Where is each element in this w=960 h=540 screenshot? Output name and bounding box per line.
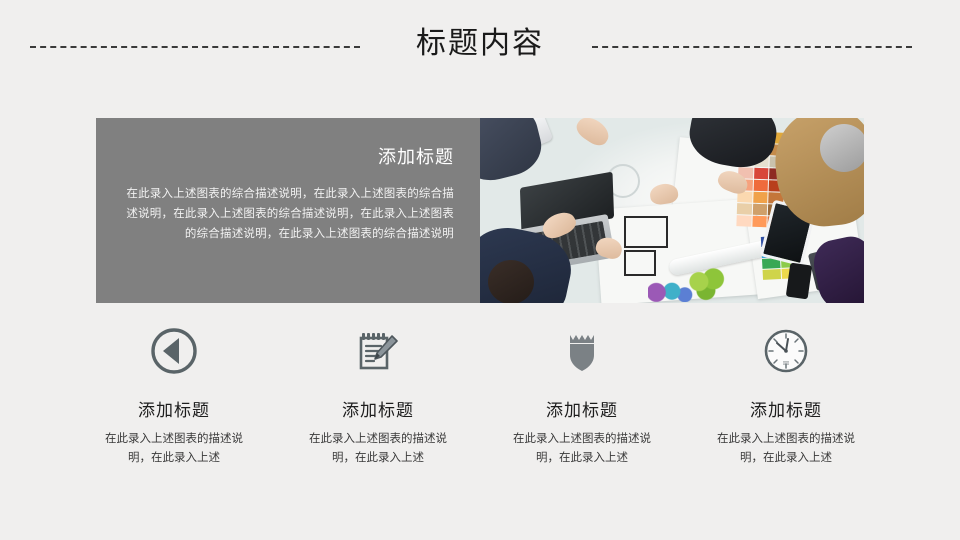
slide-header: 标题内容	[0, 0, 960, 90]
hero-photo	[480, 118, 864, 303]
feature-title: 添加标题	[480, 396, 684, 421]
feature-item-3[interactable]: 添加标题 在此录入上述图表的描述说明，在此录入上述	[480, 320, 684, 468]
photo-person-head	[820, 124, 864, 172]
photo-smartphone-dark	[786, 263, 813, 300]
header-rule-right	[592, 46, 912, 48]
feature-item-2[interactable]: 添加标题 在此录入上述图表的描述说明，在此录入上述	[276, 320, 480, 468]
shield-crown-icon	[480, 320, 684, 382]
feature-item-1[interactable]: 添加标题 在此录入上述图表的描述说明，在此录入上述	[72, 320, 276, 468]
feature-desc: 在此录入上述图表的描述说明，在此录入上述	[684, 430, 888, 468]
photo-decor-spheres	[648, 278, 694, 302]
hero-text-panel: 添加标题 在此录入上述图表的综合描述说明，在此录入上述图表的综合描述说明，在此录…	[96, 118, 480, 303]
hero-block: 添加标题 在此录入上述图表的综合描述说明，在此录入上述图表的综合描述说明，在此录…	[96, 118, 864, 303]
feature-item-4[interactable]: III 添加标题 在此录入上述图表的描述说明，在此录入上述	[684, 320, 888, 468]
photo-floorplan-line	[624, 216, 668, 248]
feature-columns: 添加标题 在此录入上述图表的描述说明，在此录入上述	[72, 320, 888, 468]
feature-title: 添加标题	[276, 396, 480, 421]
svg-text:III: III	[783, 361, 789, 367]
notepad-pencil-icon	[276, 320, 480, 382]
hero-heading: 添加标题	[122, 144, 454, 170]
feature-title: 添加标题	[684, 396, 888, 421]
feature-desc: 在此录入上述图表的描述说明，在此录入上述	[72, 430, 276, 468]
feature-title: 添加标题	[72, 396, 276, 421]
feature-desc: 在此录入上述图表的描述说明，在此录入上述	[276, 430, 480, 468]
play-back-circle-icon	[72, 320, 276, 382]
photo-person-head	[488, 260, 534, 303]
page-title: 标题内容	[0, 24, 960, 64]
feature-desc: 在此录入上述图表的描述说明，在此录入上述	[480, 430, 684, 468]
clock-icon: III	[684, 320, 888, 382]
hero-body-text: 在此录入上述图表的综合描述说明，在此录入上述图表的综合描述说明，在此录入上述图表…	[122, 184, 454, 244]
photo-floorplan-line	[624, 250, 656, 276]
